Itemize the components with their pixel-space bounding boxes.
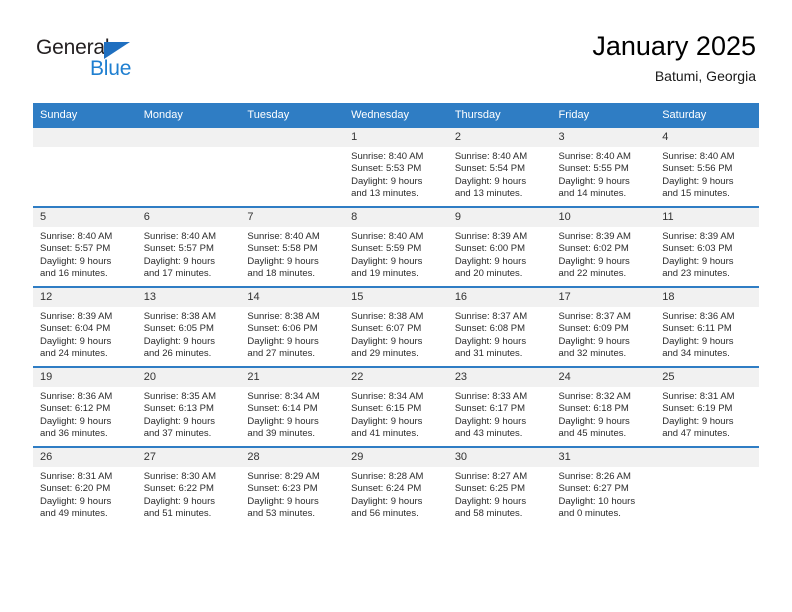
calendar-day-cell[interactable]: 9Sunrise: 8:39 AMSunset: 6:00 PMDaylight… (448, 207, 552, 287)
daylight-minutes: and 14 minutes. (559, 188, 650, 200)
daylight-minutes: and 13 minutes. (455, 188, 546, 200)
daylight-minutes: and 24 minutes. (40, 348, 131, 360)
day-number: 13 (137, 288, 241, 307)
sunset-time: Sunset: 6:19 PM (662, 403, 753, 415)
sunrise-time: Sunrise: 8:39 AM (455, 231, 546, 243)
weekday-header-tuesday: Tuesday (240, 103, 344, 127)
sunrise-time: Sunrise: 8:40 AM (351, 231, 442, 243)
sunrise-time: Sunrise: 8:32 AM (559, 391, 650, 403)
calendar-day-cell[interactable]: 30Sunrise: 8:27 AMSunset: 6:25 PMDayligh… (448, 447, 552, 526)
calendar-day-cell[interactable]: 16Sunrise: 8:37 AMSunset: 6:08 PMDayligh… (448, 287, 552, 367)
sunrise-time: Sunrise: 8:36 AM (662, 311, 753, 323)
day-number: 17 (552, 288, 656, 307)
day-number: 26 (33, 448, 137, 467)
sunrise-time: Sunrise: 8:37 AM (455, 311, 546, 323)
sunrise-time: Sunrise: 8:40 AM (662, 151, 753, 163)
weekday-header-thursday: Thursday (448, 103, 552, 127)
calendar-day-cell[interactable]: 11Sunrise: 8:39 AMSunset: 6:03 PMDayligh… (655, 207, 759, 287)
page-title: January 2025 (592, 30, 756, 62)
day-number: 16 (448, 288, 552, 307)
day-sun-info: Sunrise: 8:40 AMSunset: 5:59 PMDaylight:… (344, 227, 448, 281)
calendar-day-cell[interactable]: 22Sunrise: 8:34 AMSunset: 6:15 PMDayligh… (344, 367, 448, 447)
sunrise-time: Sunrise: 8:38 AM (144, 311, 235, 323)
day-number: 1 (344, 128, 448, 147)
calendar-day-cell[interactable]: 3Sunrise: 8:40 AMSunset: 5:55 PMDaylight… (552, 127, 656, 207)
daylight-minutes: and 22 minutes. (559, 268, 650, 280)
daylight-hours: Daylight: 9 hours (455, 176, 546, 188)
day-sun-info: Sunrise: 8:28 AMSunset: 6:24 PMDaylight:… (344, 467, 448, 521)
day-number: 10 (552, 208, 656, 227)
sunset-time: Sunset: 6:09 PM (559, 323, 650, 335)
weekday-header-sunday: Sunday (33, 103, 137, 127)
daylight-hours: Daylight: 9 hours (144, 336, 235, 348)
daylight-minutes: and 39 minutes. (247, 428, 338, 440)
daylight-minutes: and 0 minutes. (559, 508, 650, 520)
weekday-header-saturday: Saturday (655, 103, 759, 127)
calendar-week-row: 19Sunrise: 8:36 AMSunset: 6:12 PMDayligh… (33, 367, 759, 447)
day-sun-info: Sunrise: 8:39 AMSunset: 6:02 PMDaylight:… (552, 227, 656, 281)
sunrise-time: Sunrise: 8:29 AM (247, 471, 338, 483)
day-number: 18 (655, 288, 759, 307)
daylight-hours: Daylight: 9 hours (559, 336, 650, 348)
calendar-header-row: Sunday Monday Tuesday Wednesday Thursday… (33, 103, 759, 127)
daylight-minutes: and 51 minutes. (144, 508, 235, 520)
sunrise-time: Sunrise: 8:37 AM (559, 311, 650, 323)
calendar-day-cell-empty (33, 127, 137, 207)
calendar-day-cell[interactable]: 21Sunrise: 8:34 AMSunset: 6:14 PMDayligh… (240, 367, 344, 447)
daylight-hours: Daylight: 9 hours (559, 176, 650, 188)
sunset-time: Sunset: 5:57 PM (144, 243, 235, 255)
day-sun-info: Sunrise: 8:34 AMSunset: 6:15 PMDaylight:… (344, 387, 448, 441)
day-number: 25 (655, 368, 759, 387)
sunrise-time: Sunrise: 8:40 AM (559, 151, 650, 163)
day-number: 15 (344, 288, 448, 307)
calendar-day-cell[interactable]: 31Sunrise: 8:26 AMSunset: 6:27 PMDayligh… (552, 447, 656, 526)
daylight-minutes: and 17 minutes. (144, 268, 235, 280)
sunset-time: Sunset: 5:56 PM (662, 163, 753, 175)
day-sun-info: Sunrise: 8:31 AMSunset: 6:19 PMDaylight:… (655, 387, 759, 441)
sunrise-time: Sunrise: 8:27 AM (455, 471, 546, 483)
daylight-hours: Daylight: 9 hours (662, 176, 753, 188)
daylight-hours: Daylight: 9 hours (559, 256, 650, 268)
day-number: 6 (137, 208, 241, 227)
day-sun-info: Sunrise: 8:36 AMSunset: 6:12 PMDaylight:… (33, 387, 137, 441)
daylight-hours: Daylight: 9 hours (247, 496, 338, 508)
sunset-time: Sunset: 5:53 PM (351, 163, 442, 175)
daylight-hours: Daylight: 9 hours (351, 176, 442, 188)
daylight-minutes: and 29 minutes. (351, 348, 442, 360)
day-number: 2 (448, 128, 552, 147)
general-blue-logo[interactable]: General Blue (36, 36, 216, 86)
daylight-minutes: and 16 minutes. (40, 268, 131, 280)
day-sun-info: Sunrise: 8:31 AMSunset: 6:20 PMDaylight:… (33, 467, 137, 521)
sunset-time: Sunset: 6:27 PM (559, 483, 650, 495)
day-sun-info: Sunrise: 8:40 AMSunset: 5:53 PMDaylight:… (344, 147, 448, 201)
weekday-header-monday: Monday (137, 103, 241, 127)
sunset-time: Sunset: 6:15 PM (351, 403, 442, 415)
day-number: 29 (344, 448, 448, 467)
sunset-time: Sunset: 6:22 PM (144, 483, 235, 495)
daylight-minutes: and 41 minutes. (351, 428, 442, 440)
day-number: 30 (448, 448, 552, 467)
calendar-day-cell[interactable]: 23Sunrise: 8:33 AMSunset: 6:17 PMDayligh… (448, 367, 552, 447)
day-number: 3 (552, 128, 656, 147)
calendar-day-cell[interactable]: 7Sunrise: 8:40 AMSunset: 5:58 PMDaylight… (240, 207, 344, 287)
sunrise-time: Sunrise: 8:38 AM (351, 311, 442, 323)
daylight-hours: Daylight: 9 hours (40, 416, 131, 428)
calendar-page: General Blue January 2025 Batumi, Georgi… (0, 0, 792, 612)
sunset-time: Sunset: 5:58 PM (247, 243, 338, 255)
day-sun-info: Sunrise: 8:40 AMSunset: 5:54 PMDaylight:… (448, 147, 552, 201)
day-sun-info: Sunrise: 8:39 AMSunset: 6:00 PMDaylight:… (448, 227, 552, 281)
weekday-header-wednesday: Wednesday (344, 103, 448, 127)
page-subtitle: Batumi, Georgia (592, 66, 756, 86)
sunset-time: Sunset: 6:11 PM (662, 323, 753, 335)
daylight-hours: Daylight: 9 hours (144, 496, 235, 508)
daylight-hours: Daylight: 9 hours (662, 256, 753, 268)
day-number: 8 (344, 208, 448, 227)
day-number (33, 128, 137, 147)
sunset-time: Sunset: 6:25 PM (455, 483, 546, 495)
calendar-day-cell[interactable]: 12Sunrise: 8:39 AMSunset: 6:04 PMDayligh… (33, 287, 137, 367)
calendar-day-cell[interactable]: 5Sunrise: 8:40 AMSunset: 5:57 PMDaylight… (33, 207, 137, 287)
daylight-minutes: and 18 minutes. (247, 268, 338, 280)
page-header: General Blue January 2025 Batumi, Georgi… (0, 0, 792, 98)
daylight-hours: Daylight: 9 hours (351, 256, 442, 268)
day-sun-info: Sunrise: 8:39 AMSunset: 6:04 PMDaylight:… (33, 307, 137, 361)
daylight-minutes: and 31 minutes. (455, 348, 546, 360)
calendar-day-cell[interactable]: 8Sunrise: 8:40 AMSunset: 5:59 PMDaylight… (344, 207, 448, 287)
sunrise-time: Sunrise: 8:39 AM (559, 231, 650, 243)
calendar-grid: Sunday Monday Tuesday Wednesday Thursday… (33, 103, 759, 526)
daylight-minutes: and 34 minutes. (662, 348, 753, 360)
day-sun-info: Sunrise: 8:40 AMSunset: 5:58 PMDaylight:… (240, 227, 344, 281)
day-sun-info: Sunrise: 8:40 AMSunset: 5:56 PMDaylight:… (655, 147, 759, 201)
day-sun-info: Sunrise: 8:40 AMSunset: 5:57 PMDaylight:… (137, 227, 241, 281)
calendar-day-cell-empty (655, 447, 759, 526)
day-sun-info: Sunrise: 8:32 AMSunset: 6:18 PMDaylight:… (552, 387, 656, 441)
daylight-minutes: and 20 minutes. (455, 268, 546, 280)
title-block: January 2025 Batumi, Georgia (592, 30, 756, 86)
daylight-hours: Daylight: 9 hours (455, 496, 546, 508)
sunset-time: Sunset: 6:14 PM (247, 403, 338, 415)
calendar-day-cell[interactable]: 18Sunrise: 8:36 AMSunset: 6:11 PMDayligh… (655, 287, 759, 367)
weekday-header-friday: Friday (552, 103, 656, 127)
calendar-day-cell[interactable]: 28Sunrise: 8:29 AMSunset: 6:23 PMDayligh… (240, 447, 344, 526)
daylight-minutes: and 15 minutes. (662, 188, 753, 200)
daylight-minutes: and 26 minutes. (144, 348, 235, 360)
daylight-hours: Daylight: 10 hours (559, 496, 650, 508)
calendar-day-cell[interactable]: 27Sunrise: 8:30 AMSunset: 6:22 PMDayligh… (137, 447, 241, 526)
day-sun-info: Sunrise: 8:36 AMSunset: 6:11 PMDaylight:… (655, 307, 759, 361)
day-number (240, 128, 344, 147)
daylight-hours: Daylight: 9 hours (662, 336, 753, 348)
calendar-day-cell[interactable]: 6Sunrise: 8:40 AMSunset: 5:57 PMDaylight… (137, 207, 241, 287)
daylight-hours: Daylight: 9 hours (351, 416, 442, 428)
sunset-time: Sunset: 6:02 PM (559, 243, 650, 255)
calendar-day-cell[interactable]: 17Sunrise: 8:37 AMSunset: 6:09 PMDayligh… (552, 287, 656, 367)
calendar-day-cell[interactable]: 26Sunrise: 8:31 AMSunset: 6:20 PMDayligh… (33, 447, 137, 526)
calendar-day-cell[interactable]: 10Sunrise: 8:39 AMSunset: 6:02 PMDayligh… (552, 207, 656, 287)
sunrise-time: Sunrise: 8:30 AM (144, 471, 235, 483)
daylight-hours: Daylight: 9 hours (144, 416, 235, 428)
daylight-hours: Daylight: 9 hours (247, 416, 338, 428)
sunset-time: Sunset: 5:59 PM (351, 243, 442, 255)
day-number (137, 128, 241, 147)
sunset-time: Sunset: 6:24 PM (351, 483, 442, 495)
day-sun-info: Sunrise: 8:40 AMSunset: 5:57 PMDaylight:… (33, 227, 137, 281)
sunset-time: Sunset: 6:17 PM (455, 403, 546, 415)
day-sun-info: Sunrise: 8:27 AMSunset: 6:25 PMDaylight:… (448, 467, 552, 521)
daylight-minutes: and 36 minutes. (40, 428, 131, 440)
daylight-minutes: and 32 minutes. (559, 348, 650, 360)
daylight-hours: Daylight: 9 hours (455, 416, 546, 428)
day-sun-info: Sunrise: 8:40 AMSunset: 5:55 PMDaylight:… (552, 147, 656, 201)
daylight-minutes: and 58 minutes. (455, 508, 546, 520)
daylight-hours: Daylight: 9 hours (247, 336, 338, 348)
calendar-week-row: 1Sunrise: 8:40 AMSunset: 5:53 PMDaylight… (33, 127, 759, 207)
day-sun-info: Sunrise: 8:30 AMSunset: 6:22 PMDaylight:… (137, 467, 241, 521)
sunset-time: Sunset: 6:03 PM (662, 243, 753, 255)
day-number: 20 (137, 368, 241, 387)
sunrise-time: Sunrise: 8:31 AM (662, 391, 753, 403)
day-number: 4 (655, 128, 759, 147)
day-sun-info: Sunrise: 8:38 AMSunset: 6:07 PMDaylight:… (344, 307, 448, 361)
sunrise-time: Sunrise: 8:34 AM (351, 391, 442, 403)
day-sun-info: Sunrise: 8:39 AMSunset: 6:03 PMDaylight:… (655, 227, 759, 281)
day-sun-info: Sunrise: 8:38 AMSunset: 6:05 PMDaylight:… (137, 307, 241, 361)
daylight-hours: Daylight: 9 hours (40, 256, 131, 268)
day-number: 24 (552, 368, 656, 387)
day-number: 22 (344, 368, 448, 387)
day-number: 27 (137, 448, 241, 467)
calendar-day-cell[interactable]: 24Sunrise: 8:32 AMSunset: 6:18 PMDayligh… (552, 367, 656, 447)
daylight-minutes: and 43 minutes. (455, 428, 546, 440)
day-sun-info: Sunrise: 8:26 AMSunset: 6:27 PMDaylight:… (552, 467, 656, 521)
sunset-time: Sunset: 6:04 PM (40, 323, 131, 335)
day-number: 14 (240, 288, 344, 307)
sunrise-time: Sunrise: 8:40 AM (40, 231, 131, 243)
sunset-time: Sunset: 5:54 PM (455, 163, 546, 175)
calendar-day-cell[interactable]: 19Sunrise: 8:36 AMSunset: 6:12 PMDayligh… (33, 367, 137, 447)
day-number: 19 (33, 368, 137, 387)
day-sun-info: Sunrise: 8:29 AMSunset: 6:23 PMDaylight:… (240, 467, 344, 521)
daylight-minutes: and 19 minutes. (351, 268, 442, 280)
sunset-time: Sunset: 6:06 PM (247, 323, 338, 335)
sunset-time: Sunset: 6:13 PM (144, 403, 235, 415)
day-number (655, 448, 759, 467)
daylight-hours: Daylight: 9 hours (559, 416, 650, 428)
sunrise-time: Sunrise: 8:34 AM (247, 391, 338, 403)
day-sun-info: Sunrise: 8:37 AMSunset: 6:08 PMDaylight:… (448, 307, 552, 361)
calendar-day-cell[interactable]: 15Sunrise: 8:38 AMSunset: 6:07 PMDayligh… (344, 287, 448, 367)
daylight-minutes: and 47 minutes. (662, 428, 753, 440)
sunset-time: Sunset: 5:55 PM (559, 163, 650, 175)
daylight-minutes: and 23 minutes. (662, 268, 753, 280)
daylight-minutes: and 49 minutes. (40, 508, 131, 520)
daylight-hours: Daylight: 9 hours (40, 496, 131, 508)
calendar-day-cell-empty (240, 127, 344, 207)
sunrise-time: Sunrise: 8:40 AM (247, 231, 338, 243)
sunrise-time: Sunrise: 8:40 AM (455, 151, 546, 163)
day-sun-info: Sunrise: 8:33 AMSunset: 6:17 PMDaylight:… (448, 387, 552, 441)
daylight-minutes: and 37 minutes. (144, 428, 235, 440)
day-number: 31 (552, 448, 656, 467)
daylight-hours: Daylight: 9 hours (144, 256, 235, 268)
sunset-time: Sunset: 5:57 PM (40, 243, 131, 255)
daylight-hours: Daylight: 9 hours (40, 336, 131, 348)
daylight-minutes: and 13 minutes. (351, 188, 442, 200)
sunrise-time: Sunrise: 8:39 AM (662, 231, 753, 243)
day-sun-info: Sunrise: 8:35 AMSunset: 6:13 PMDaylight:… (137, 387, 241, 441)
daylight-hours: Daylight: 9 hours (662, 416, 753, 428)
calendar-day-cell[interactable]: 2Sunrise: 8:40 AMSunset: 5:54 PMDaylight… (448, 127, 552, 207)
sunrise-time: Sunrise: 8:33 AM (455, 391, 546, 403)
daylight-minutes: and 53 minutes. (247, 508, 338, 520)
calendar-day-cell[interactable]: 13Sunrise: 8:38 AMSunset: 6:05 PMDayligh… (137, 287, 241, 367)
calendar-day-cell[interactable]: 1Sunrise: 8:40 AMSunset: 5:53 PMDaylight… (344, 127, 448, 207)
day-number: 23 (448, 368, 552, 387)
sunrise-time: Sunrise: 8:40 AM (351, 151, 442, 163)
calendar-week-row: 26Sunrise: 8:31 AMSunset: 6:20 PMDayligh… (33, 447, 759, 526)
day-number: 21 (240, 368, 344, 387)
calendar-week-row: 5Sunrise: 8:40 AMSunset: 5:57 PMDaylight… (33, 207, 759, 287)
daylight-hours: Daylight: 9 hours (455, 256, 546, 268)
sunset-time: Sunset: 6:20 PM (40, 483, 131, 495)
day-number: 11 (655, 208, 759, 227)
day-number: 28 (240, 448, 344, 467)
calendar-day-cell[interactable]: 14Sunrise: 8:38 AMSunset: 6:06 PMDayligh… (240, 287, 344, 367)
calendar-body: 1Sunrise: 8:40 AMSunset: 5:53 PMDaylight… (33, 127, 759, 526)
calendar-day-cell-empty (137, 127, 241, 207)
sunset-time: Sunset: 6:18 PM (559, 403, 650, 415)
day-sun-info: Sunrise: 8:34 AMSunset: 6:14 PMDaylight:… (240, 387, 344, 441)
daylight-minutes: and 45 minutes. (559, 428, 650, 440)
day-sun-info: Sunrise: 8:38 AMSunset: 6:06 PMDaylight:… (240, 307, 344, 361)
calendar-day-cell[interactable]: 20Sunrise: 8:35 AMSunset: 6:13 PMDayligh… (137, 367, 241, 447)
sunrise-time: Sunrise: 8:26 AM (559, 471, 650, 483)
calendar-day-cell[interactable]: 4Sunrise: 8:40 AMSunset: 5:56 PMDaylight… (655, 127, 759, 207)
day-number: 12 (33, 288, 137, 307)
sunset-time: Sunset: 6:08 PM (455, 323, 546, 335)
sunset-time: Sunset: 6:05 PM (144, 323, 235, 335)
sunrise-time: Sunrise: 8:39 AM (40, 311, 131, 323)
sunset-time: Sunset: 6:12 PM (40, 403, 131, 415)
calendar-week-row: 12Sunrise: 8:39 AMSunset: 6:04 PMDayligh… (33, 287, 759, 367)
sunrise-time: Sunrise: 8:40 AM (144, 231, 235, 243)
daylight-hours: Daylight: 9 hours (351, 336, 442, 348)
day-number: 5 (33, 208, 137, 227)
daylight-hours: Daylight: 9 hours (247, 256, 338, 268)
day-number: 7 (240, 208, 344, 227)
daylight-minutes: and 27 minutes. (247, 348, 338, 360)
day-sun-info: Sunrise: 8:37 AMSunset: 6:09 PMDaylight:… (552, 307, 656, 361)
daylight-hours: Daylight: 9 hours (455, 336, 546, 348)
sunrise-time: Sunrise: 8:31 AM (40, 471, 131, 483)
sunrise-time: Sunrise: 8:28 AM (351, 471, 442, 483)
day-number: 9 (448, 208, 552, 227)
logo-text-blue: Blue (90, 57, 131, 81)
calendar-day-cell[interactable]: 25Sunrise: 8:31 AMSunset: 6:19 PMDayligh… (655, 367, 759, 447)
sunrise-time: Sunrise: 8:38 AM (247, 311, 338, 323)
calendar-day-cell[interactable]: 29Sunrise: 8:28 AMSunset: 6:24 PMDayligh… (344, 447, 448, 526)
sunset-time: Sunset: 6:23 PM (247, 483, 338, 495)
sunset-time: Sunset: 6:07 PM (351, 323, 442, 335)
sunrise-time: Sunrise: 8:36 AM (40, 391, 131, 403)
daylight-minutes: and 56 minutes. (351, 508, 442, 520)
sunset-time: Sunset: 6:00 PM (455, 243, 546, 255)
daylight-hours: Daylight: 9 hours (351, 496, 442, 508)
sunrise-time: Sunrise: 8:35 AM (144, 391, 235, 403)
